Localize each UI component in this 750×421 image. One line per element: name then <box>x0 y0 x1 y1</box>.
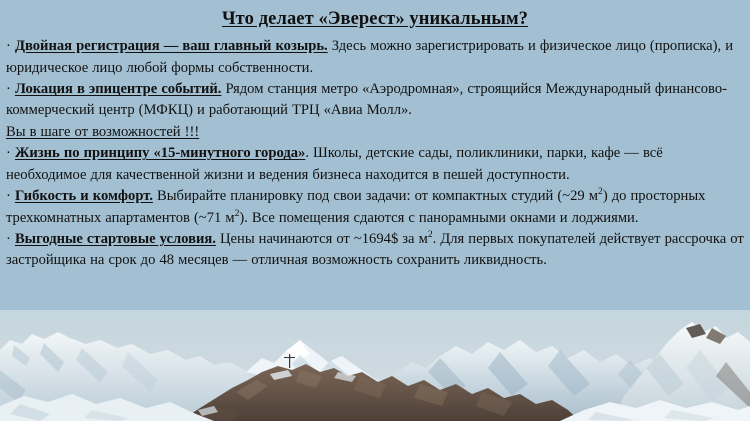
paragraph-lead: Гибкость и комфорт. <box>15 188 153 204</box>
paragraph-text-a: Цены начинаются от ~1694$ за м <box>216 231 428 247</box>
paragraph-15-minute-city: · Жизнь по принципу «15-минутного города… <box>6 143 744 186</box>
slide-body: · Двойная регистрация — ваш главный козы… <box>0 36 750 271</box>
paragraph-location: · Локация в эпицентре событий. Рядом ста… <box>6 79 744 122</box>
slide-text-layer: Что делает «Эверест» уникальным? · Двойн… <box>0 0 750 272</box>
bullet-marker: · <box>6 81 11 97</box>
page-title: Что делает «Эверест» уникальным? <box>0 9 750 30</box>
bullet-marker: · <box>6 38 11 54</box>
paragraph-lead: Двойная регистрация — ваш главный козырь… <box>15 38 328 54</box>
paragraph-lead: Локация в эпицентре событий. <box>15 81 222 97</box>
mountain-photo <box>0 310 750 421</box>
paragraph-lead: Выгодные стартовые условия. <box>15 231 216 247</box>
bullet-marker: · <box>6 145 11 161</box>
paragraph-lead: Жизнь по принципу «15-минутного города» <box>15 145 305 161</box>
paragraph-text-a: Выбирайте планировку под свои задачи: от… <box>153 188 598 204</box>
presentation-slide: Что делает «Эверест» уникальным? · Двойн… <box>0 0 750 421</box>
paragraph-flexibility-comfort: · Гибкость и комфорт. Выбирайте планиров… <box>6 186 744 229</box>
summit-antenna-icon <box>289 354 290 368</box>
paragraph-starting-conditions: · Выгодные стартовые условия. Цены начин… <box>6 229 744 272</box>
bullet-marker: · <box>6 188 11 204</box>
bullet-marker: · <box>6 231 11 247</box>
paragraph-opportunity-callout: Вы в шаге от возможностей !!! <box>6 122 744 143</box>
callout-text: Вы в шаге от возможностей !!! <box>6 124 199 140</box>
mountain-photo-graphic <box>0 310 750 421</box>
paragraph-dual-registration: · Двойная регистрация — ваш главный козы… <box>6 36 744 79</box>
paragraph-text-c: ). Все помещения сдаются с панорамными о… <box>239 210 638 226</box>
